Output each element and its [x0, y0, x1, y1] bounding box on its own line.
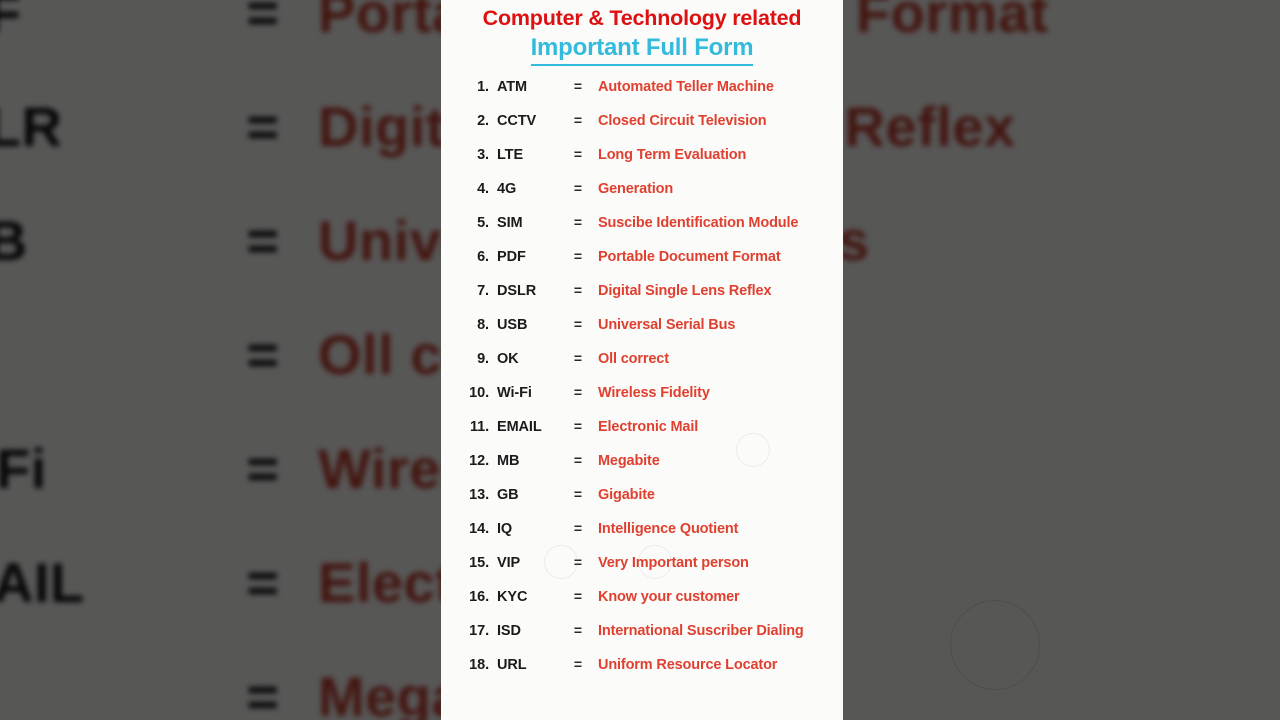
equals-sign: = — [564, 588, 592, 604]
list-item-abbreviation: ATM — [489, 79, 564, 95]
list-item-abbreviation: EMAIL — [489, 419, 564, 435]
list-item-full-form: Uniform Resource Locator — [592, 657, 777, 673]
equals-sign: = — [564, 622, 592, 638]
list-item-full-form: Know your customer — [592, 589, 740, 605]
equals-sign: = — [564, 520, 592, 536]
equals-sign: = — [564, 78, 592, 94]
backdrop-equals-sign: = — [208, 94, 318, 159]
equals-sign: = — [564, 248, 592, 264]
backdrop-equals-sign: = — [208, 322, 318, 387]
list-item: 10.Wi-Fi=Wireless Fidelity — [441, 384, 843, 418]
list-item: 15.VIP=Very Important person — [441, 554, 843, 588]
list-item-abbreviation: CCTV — [489, 113, 564, 129]
list-item-full-form: Closed Circuit Television — [592, 113, 766, 129]
list-item-number: 17. — [455, 623, 489, 639]
list-item: 5.SIM=Suscibe Identification Module — [441, 214, 843, 248]
list-item: 3.LTE=Long Term Evaluation — [441, 146, 843, 180]
list-item-number: 16. — [455, 589, 489, 605]
list-item-abbreviation: KYC — [489, 589, 564, 605]
list-item-abbreviation: URL — [489, 657, 564, 673]
list-item-number: 6. — [455, 249, 489, 265]
list-item: 13.GB=Gigabite — [441, 486, 843, 520]
list-item-full-form: Intelligence Quotient — [592, 521, 738, 537]
backdrop-equals-sign: = — [208, 550, 318, 615]
list-item-abbreviation: PDF — [489, 249, 564, 265]
list-item-number: 11. — [455, 419, 489, 435]
list-item-abbreviation: VIP — [489, 555, 564, 571]
list-item-number: 9. — [455, 351, 489, 367]
list-item-number: 4. — [455, 181, 489, 197]
list-item-abbreviation: ISD — [489, 623, 564, 639]
screenshot-root: 6.PDF=Portable Document Format7.DSLR=Dig… — [0, 0, 1280, 720]
equals-sign: = — [564, 316, 592, 332]
equals-sign: = — [564, 452, 592, 468]
equals-sign: = — [564, 180, 592, 196]
backdrop-equals-sign: = — [208, 664, 318, 720]
list-item-full-form: Very Important person — [592, 555, 749, 571]
list-item-full-form: Electronic Mail — [592, 419, 698, 435]
content-card: Computer & Technology related Important … — [441, 0, 843, 720]
backdrop-item-abbreviation: Wi-Fi — [0, 436, 208, 501]
list-item-full-form: Gigabite — [592, 487, 655, 503]
list-item-abbreviation: IQ — [489, 521, 564, 537]
list-item-number: 14. — [455, 521, 489, 537]
list-item-abbreviation: OK — [489, 351, 564, 367]
backdrop-item-abbreviation: PDF — [0, 0, 208, 45]
equals-sign: = — [564, 282, 592, 298]
list-item: 16.KYC=Know your customer — [441, 588, 843, 622]
list-item-full-form: Automated Teller Machine — [592, 79, 774, 95]
backdrop-equals-sign: = — [208, 436, 318, 501]
list-item-full-form: Oll correct — [592, 351, 669, 367]
equals-sign: = — [564, 656, 592, 672]
equals-sign: = — [564, 214, 592, 230]
page-title-line1: Computer & Technology related — [441, 6, 843, 31]
list-item-full-form: International Suscriber Dialing — [592, 623, 804, 639]
equals-sign: = — [564, 554, 592, 570]
list-item: 6.PDF=Portable Document Format — [441, 248, 843, 282]
list-item-full-form: Suscibe Identification Module — [592, 215, 798, 231]
list-item-abbreviation: LTE — [489, 147, 564, 163]
backdrop-item-abbreviation: DSLR — [0, 94, 208, 159]
list-item-full-form: Long Term Evaluation — [592, 147, 746, 163]
list-item-abbreviation: GB — [489, 487, 564, 503]
list-item-number: 5. — [455, 215, 489, 231]
list-item-number: 2. — [455, 113, 489, 129]
list-item-number: 13. — [455, 487, 489, 503]
equals-sign: = — [564, 384, 592, 400]
list-item: 8.USB=Universal Serial Bus — [441, 316, 843, 350]
page-title-line2: Important Full Form — [531, 34, 754, 66]
list-item: 2.CCTV=Closed Circuit Television — [441, 112, 843, 146]
equals-sign: = — [564, 112, 592, 128]
full-form-list: 1.ATM=Automated Teller Machine2.CCTV=Clo… — [441, 78, 843, 690]
list-item: 9.OK=Oll correct — [441, 350, 843, 384]
list-item-number: 1. — [455, 79, 489, 95]
backdrop-item-abbreviation: USB — [0, 208, 208, 273]
list-item: 11.EMAIL=Electronic Mail — [441, 418, 843, 452]
list-item: 18.URL=Uniform Resource Locator — [441, 656, 843, 690]
list-item: 7.DSLR=Digital Single Lens Reflex — [441, 282, 843, 316]
list-item-abbreviation: SIM — [489, 215, 564, 231]
list-item-full-form: Digital Single Lens Reflex — [592, 283, 771, 299]
list-item-abbreviation: MB — [489, 453, 564, 469]
equals-sign: = — [564, 486, 592, 502]
backdrop-item-abbreviation: EMAIL — [0, 550, 208, 615]
list-item-number: 12. — [455, 453, 489, 469]
list-item-abbreviation: Wi-Fi — [489, 385, 564, 401]
list-item: 1.ATM=Automated Teller Machine — [441, 78, 843, 112]
backdrop-equals-sign: = — [208, 0, 318, 45]
equals-sign: = — [564, 350, 592, 366]
list-item: 14.IQ=Intelligence Quotient — [441, 520, 843, 554]
list-item-full-form: Portable Document Format — [592, 249, 781, 265]
list-item-full-form: Megabite — [592, 453, 660, 469]
list-item-abbreviation: 4G — [489, 181, 564, 197]
list-item: 4.4G=Generation — [441, 180, 843, 214]
list-item-number: 7. — [455, 283, 489, 299]
list-item-full-form: Wireless Fidelity — [592, 385, 710, 401]
list-item-number: 8. — [455, 317, 489, 333]
backdrop-equals-sign: = — [208, 208, 318, 273]
title-block: Computer & Technology related Important … — [441, 0, 843, 66]
list-item: 12.MB=Megabite — [441, 452, 843, 486]
backdrop-item-abbreviation: OK — [0, 322, 208, 387]
equals-sign: = — [564, 418, 592, 434]
list-item-number: 15. — [455, 555, 489, 571]
list-item-number: 10. — [455, 385, 489, 401]
list-item-number: 18. — [455, 657, 489, 673]
list-item: 17.ISD=International Suscriber Dialing — [441, 622, 843, 656]
list-item-abbreviation: USB — [489, 317, 564, 333]
list-item-number: 3. — [455, 147, 489, 163]
list-item-full-form: Generation — [592, 181, 673, 197]
list-item-full-form: Universal Serial Bus — [592, 317, 735, 333]
list-item-abbreviation: DSLR — [489, 283, 564, 299]
equals-sign: = — [564, 146, 592, 162]
backdrop-item-abbreviation: MB — [0, 664, 208, 720]
